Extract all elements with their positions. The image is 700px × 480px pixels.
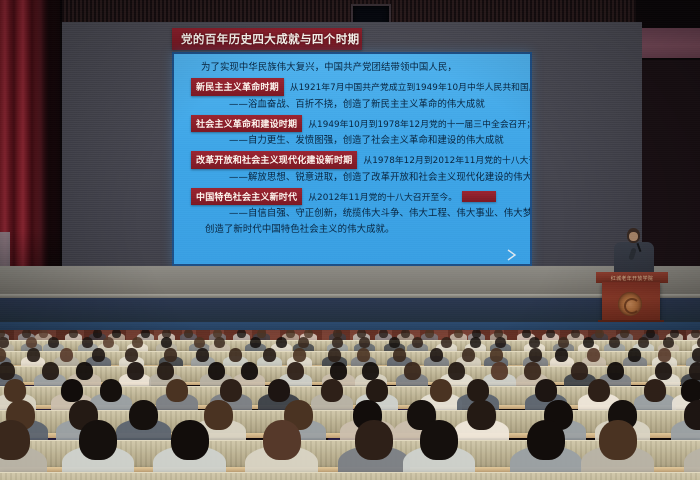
audience-head (321, 379, 343, 402)
audience-head (0, 348, 6, 362)
period-row-2: 社会主义革命和建设时期 从1949年10月到1978年12月党的十一届三中全会召… (185, 115, 519, 133)
audience-head (27, 348, 40, 362)
audience-head (558, 337, 569, 348)
period-desc-4: 从2012年11月党的十八大召开至今。 (308, 190, 457, 203)
audience-head (425, 330, 434, 338)
audience-head (263, 348, 276, 362)
audience-head (491, 362, 508, 380)
audience-head (42, 362, 59, 380)
seat-back-slats (0, 473, 700, 480)
audience-head (287, 362, 304, 380)
audience-head (646, 330, 655, 338)
audience-head (166, 379, 188, 402)
projected-slide: 为了实现中华民族伟大复兴，中国共产党团结带领中国人民， 新民主主义革命时期 从1… (172, 52, 532, 266)
audience-head (638, 337, 649, 348)
period-achievement-3: ——解放思想、锐意进取，创造了改革开放和社会主义现代化建设的伟大成就 (185, 172, 519, 184)
audience-head (194, 337, 205, 348)
audience-head (495, 337, 506, 348)
audience-head (100, 379, 122, 402)
slide-corner-decoration-icon (506, 249, 520, 261)
audience-head (76, 362, 93, 380)
audience-head (555, 348, 568, 362)
audience-head (681, 379, 700, 402)
audience-head (583, 337, 594, 348)
audience-head (298, 337, 309, 348)
audience-head (196, 348, 209, 362)
audience-head (161, 337, 172, 348)
audience-head (692, 348, 700, 362)
audience-head (527, 420, 565, 460)
slide-title-text: 党的百年历史四大成就与四个时期 (181, 31, 360, 47)
audience-head (229, 348, 242, 362)
audience-head (529, 348, 542, 362)
audience-head (103, 337, 114, 348)
period-marker-4 (462, 191, 496, 202)
audience-head (366, 379, 388, 402)
audience-head (362, 362, 379, 380)
period-desc-1: 从1921年7月中国共产党成立到1949年10月中华人民共和国成立； (290, 80, 530, 93)
audience-head (332, 337, 343, 348)
audience-head (208, 362, 225, 380)
audience-head (0, 420, 30, 460)
audience-head (157, 362, 174, 380)
period-desc-2: 从1949年10月到1978年12月党的十一届三中全会召开； (308, 117, 530, 130)
audience-head (448, 362, 465, 380)
audience-head (404, 362, 421, 380)
audience-head (171, 420, 209, 460)
period-achievement-4-cont: 创造了新时代中国特色社会主义的伟大成就。 (185, 224, 519, 236)
audience-head (61, 379, 83, 402)
audience-head (69, 330, 78, 338)
audience-head (535, 379, 557, 402)
audience-head (609, 337, 620, 348)
audience-head (462, 348, 475, 362)
audience-head (571, 330, 580, 338)
audience-head (359, 337, 370, 348)
audience-head (389, 337, 400, 348)
audience-head (655, 362, 672, 380)
audience-head (689, 362, 700, 380)
audience-head (0, 362, 15, 380)
audience-head (141, 330, 150, 338)
audience-head (599, 420, 637, 460)
audience-head (595, 330, 604, 338)
audience-head (524, 362, 541, 380)
audience-head (420, 420, 458, 460)
period-badge-4: 中国特色社会主义新时代 (191, 188, 302, 206)
audience-head (529, 337, 540, 348)
audience-head (268, 379, 290, 402)
audience-head (129, 400, 158, 430)
period-row-1: 新民主主义革命时期 从1921年7月中国共产党成立到1949年10月中华人民共和… (185, 78, 519, 96)
audience-head (620, 330, 629, 338)
audience-head (330, 362, 347, 380)
audience-head (658, 348, 671, 362)
audience-head (587, 348, 600, 362)
audience-head (237, 330, 246, 338)
audience-head (546, 330, 555, 338)
audience-head (293, 348, 306, 362)
audience-head (355, 420, 393, 460)
audience-head (571, 362, 588, 380)
audience-head (628, 348, 641, 362)
speaker-face (629, 232, 638, 241)
audience-head (454, 330, 463, 338)
audience-head (328, 348, 341, 362)
audience-head (379, 330, 388, 338)
audience-seat-row (0, 472, 700, 480)
audience-head (26, 337, 37, 348)
audience-head (204, 400, 233, 430)
audience-head (663, 337, 674, 348)
audience-head (286, 330, 295, 338)
podium-nameplate: 红城老年开放学院 (600, 274, 664, 282)
period-row-3: 改革开放和社会主义现代化建设新时期 从1978年12月到2012年11月党的十八… (185, 151, 519, 169)
period-achievement-2: ——自力更生、发愤图强，创造了社会主义革命和建设的伟大成就 (185, 135, 519, 147)
audience-head (430, 348, 443, 362)
auditorium-photo: 党的百年历史四大成就与四个时期 为了实现中华民族伟大复兴，中国共产党团结带领中国… (0, 0, 700, 480)
audience-head (48, 337, 59, 348)
audience-head (401, 330, 410, 338)
audience-head (467, 400, 496, 430)
slide-title-banner: 党的百年历史四大成就与四个时期 (172, 28, 362, 50)
audience-head (588, 379, 610, 402)
period-badge-2: 社会主义革命和建设时期 (191, 115, 302, 133)
audience-head (412, 337, 423, 348)
audience-head (82, 337, 93, 348)
audience-head (0, 337, 9, 348)
audience-head (250, 337, 261, 348)
audience-head (490, 348, 503, 362)
audience-head (276, 337, 287, 348)
audience-head (470, 337, 481, 348)
audience-head (60, 348, 73, 362)
audience-area (0, 330, 700, 480)
period-row-4: 中国特色社会主义新时代 从2012年11月党的十八大召开至今。 (185, 188, 519, 206)
period-desc-3: 从1978年12月到2012年11月党的十八大召开； (363, 153, 530, 166)
audience-head (467, 379, 489, 402)
speaker-torso (614, 242, 654, 276)
period-achievement-1: ——浴血奋战、百折不挠，创造了新民主主义革命的伟大成就 (185, 99, 519, 111)
audience-head (132, 337, 143, 348)
period-badge-3: 改革开放和社会主义现代化建设新时期 (191, 151, 357, 169)
audience-head (441, 337, 452, 348)
audience-head (79, 420, 117, 460)
audience-head (4, 379, 26, 402)
audience-head (127, 362, 144, 380)
audience-head (607, 362, 624, 380)
audience-head (684, 400, 700, 430)
slide-content: 为了实现中华民族伟大复兴，中国共产党团结带领中国人民， 新民主主义革命时期 从1… (174, 54, 530, 264)
period-achievement-4: ——自信自强、守正创新，统揽伟大斗争、伟大工程、伟大事业、伟大梦想， (185, 208, 519, 220)
audience-head (393, 348, 406, 362)
audience-head (430, 379, 452, 402)
audience-head (241, 362, 258, 380)
audience-head (164, 348, 177, 362)
audience-head (112, 330, 121, 338)
audience-head (522, 330, 531, 338)
podium-emblem-icon (618, 292, 642, 316)
audience-head (263, 420, 301, 460)
audience-head (125, 348, 138, 362)
audience-head (214, 337, 225, 348)
slide-intro-line: 为了实现中华民族伟大复兴，中国共产党团结带领中国人民， (185, 62, 519, 74)
audience-head (220, 379, 242, 402)
audience-head (357, 348, 370, 362)
audience-head (184, 330, 193, 338)
audience-head (644, 379, 666, 402)
audience-head (92, 348, 105, 362)
period-badge-1: 新民主主义革命时期 (191, 78, 284, 96)
audience-head (93, 330, 102, 338)
